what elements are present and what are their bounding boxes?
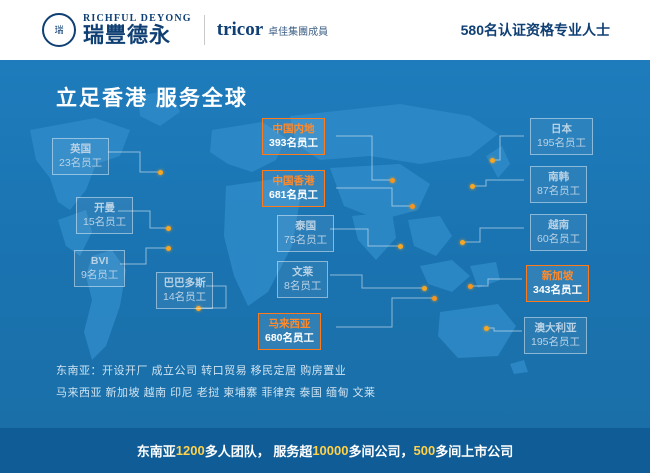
footnote-line-1: 东南亚：开设开厂 成立公司 转口贸易 移民定居 购房置业 [56,365,346,377]
map-dot-bvi [166,246,171,251]
header-bar: 瑞 RICHFUL DEYONG 瑞豐德永 tricor 卓佳集團成員 580名… [0,0,650,60]
partner-logo: tricor 卓佳集團成員 [217,19,328,41]
country-card-uk[interactable]: 英国 23名员工 [52,138,109,175]
country-card-brunei-name: 文莱 [284,265,321,279]
country-card-bvi[interactable]: BVI 9名员工 [74,250,125,287]
map-dot-thailand [398,244,403,249]
country-card-hongkong[interactable]: 中国香港 681名员工 [262,170,325,207]
country-card-malaysia[interactable]: 马来西亚 680名员工 [258,313,321,350]
partner-subtitle: 卓佳集團成員 [268,23,328,38]
map-dot-mainland [390,178,395,183]
map-dot-singapore [468,284,473,289]
map-dot-australia [484,326,489,331]
country-card-vietnam-name: 越南 [537,218,580,232]
country-card-hongkong-count: 681名员工 [269,188,318,202]
country-card-malaysia-count: 680名员工 [265,331,314,345]
country-card-malaysia-name: 马来西亚 [265,317,314,331]
country-card-japan-name: 日本 [537,122,586,136]
country-card-japan[interactable]: 日本 195名员工 [530,118,593,155]
country-card-cayman[interactable]: 开曼 15名员工 [76,197,133,234]
country-card-thailand-count: 75名员工 [284,233,327,247]
map-dot-brunei [422,286,427,291]
summary-seg-2: 多人团队， 服务超 [205,441,313,460]
map-dot-vietnam [460,240,465,245]
country-card-cayman-name: 开曼 [83,201,126,215]
country-card-barbados[interactable]: 巴巴多斯 14名员工 [156,272,213,309]
header-divider [204,15,205,45]
summary-seg-3: 多间公司， [348,441,413,460]
country-card-japan-count: 195名员工 [537,136,586,150]
country-card-thailand[interactable]: 泰国 75名员工 [277,215,334,252]
map-dot-malaysia [432,296,437,301]
partner-name: tricor [217,19,263,41]
footnote-line-2: 马来西亚 新加坡 越南 印尼 老挝 柬埔寨 菲律宾 泰国 缅甸 文莱 [56,387,376,399]
country-card-uk-count: 23名员工 [59,156,102,170]
country-card-cayman-count: 15名员工 [83,215,126,229]
country-card-southkorea-name: 南韩 [537,170,580,184]
summary-number-team: 1200 [176,443,205,458]
map-dot-japan [490,158,495,163]
country-card-southkorea-count: 87名员工 [537,184,580,198]
slide-root: 瑞 RICHFUL DEYONG 瑞豐德永 tricor 卓佳集團成員 580名… [0,0,650,473]
country-card-australia-count: 195名员工 [531,335,580,349]
country-card-bvi-name: BVI [81,254,118,268]
map-dot-hongkong [410,204,415,209]
footnote-block: 东南亚：开设开厂 成立公司 转口贸易 移民定居 购房置业 马来西亚 新加坡 越南… [56,360,376,404]
country-card-brunei-count: 8名员工 [284,279,321,293]
bottom-summary-bar: 东南亚 1200 多人团队， 服务超 10000 多间公司， 500 多间上市公… [0,428,650,473]
country-card-bvi-count: 9名员工 [81,268,118,282]
country-card-mainland-count: 393名员工 [269,136,318,150]
summary-seg-1: 东南亚 [137,441,176,460]
country-card-singapore-count: 343名员工 [533,283,582,297]
map-dot-uk [158,170,163,175]
country-card-barbados-name: 巴巴多斯 [163,276,206,290]
country-card-barbados-count: 14名员工 [163,290,206,304]
country-card-mainland[interactable]: 中国内地 393名员工 [262,118,325,155]
brand-chinese: 瑞豐德永 [83,24,192,46]
country-card-thailand-name: 泰国 [284,219,327,233]
country-card-mainland-name: 中国内地 [269,122,318,136]
country-card-hongkong-name: 中国香港 [269,174,318,188]
summary-seg-4: 多间上市公司 [435,441,513,460]
summary-number-listed: 500 [414,443,436,458]
brand-text: RICHFUL DEYONG 瑞豐德永 [83,13,192,46]
country-card-australia[interactable]: 澳大利亚 195名员工 [524,317,587,354]
country-card-brunei[interactable]: 文莱 8名员工 [277,261,328,298]
country-card-vietnam-count: 60名员工 [537,232,580,246]
country-card-vietnam[interactable]: 越南 60名员工 [530,214,587,251]
page-title: 立足香港 服务全球 [56,82,248,112]
country-card-uk-name: 英国 [59,142,102,156]
header-tagline: 580名认证资格专业人士 [461,20,650,40]
country-card-australia-name: 澳大利亚 [531,321,580,335]
brand-logo: 瑞 RICHFUL DEYONG 瑞豐德永 [0,13,192,47]
map-dot-cayman [166,226,171,231]
country-card-singapore-name: 新加坡 [533,269,582,283]
seal-icon: 瑞 [42,13,76,47]
country-card-southkorea[interactable]: 南韩 87名员工 [530,166,587,203]
summary-number-companies: 10000 [312,443,348,458]
country-card-singapore[interactable]: 新加坡 343名员工 [526,265,589,302]
map-panel: 立足香港 服务全球 英国 23名员工 开曼 15名员工 BVI 9名员工 巴巴多… [0,60,650,428]
map-dot-southkorea [470,184,475,189]
seal-icon-text: 瑞 [54,26,63,35]
